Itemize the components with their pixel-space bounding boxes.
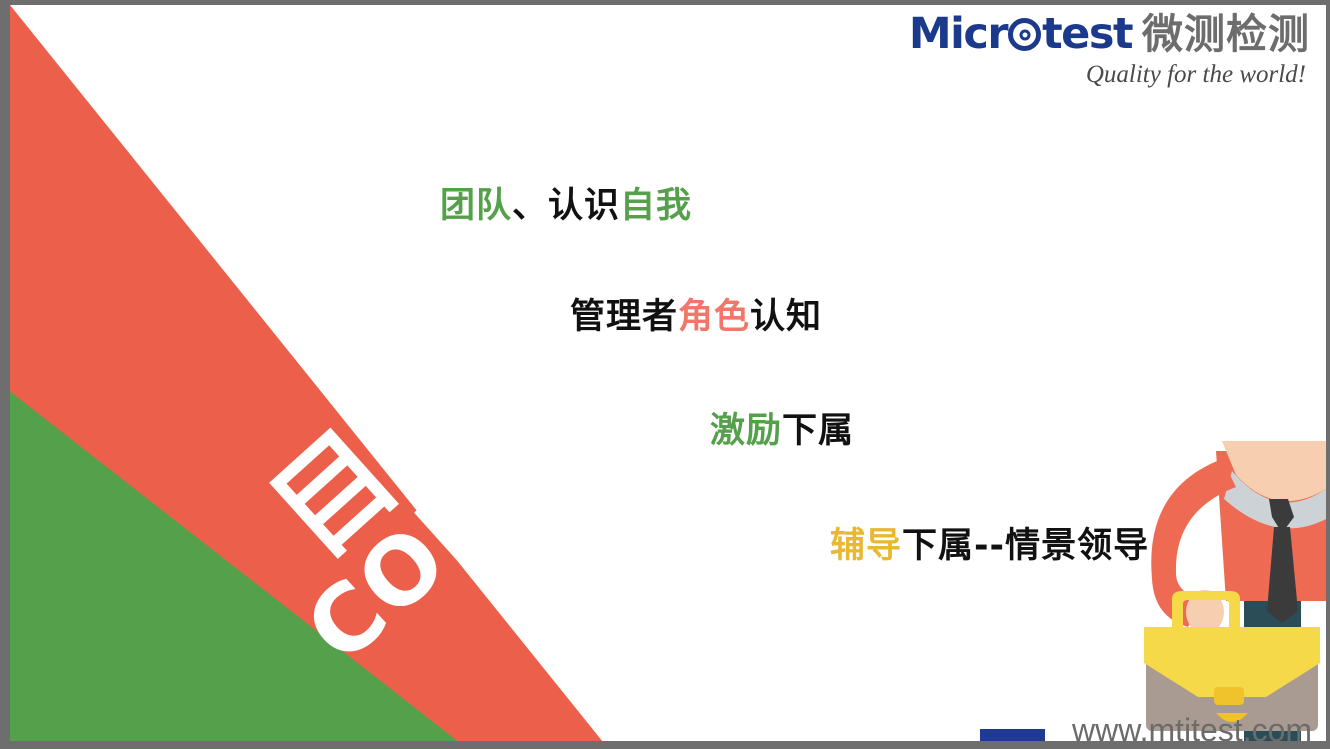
agenda-item-1-seg-2: 、认识 bbox=[512, 186, 620, 226]
agenda-item-1-seg-3: 自我 bbox=[620, 186, 692, 226]
agenda-item-4[interactable]: 辅导下属--情景领导 bbox=[830, 517, 1149, 568]
agenda-item-2-seg-3: 认知 bbox=[750, 297, 822, 337]
agenda-item-3-seg-2: 下属 bbox=[782, 411, 854, 451]
target-ring-o-icon bbox=[1008, 18, 1041, 51]
agenda-item-1-seg-1: 团队 bbox=[440, 186, 512, 226]
slide-canvas: Micr test 微测检测 Quality for the world! 目录… bbox=[10, 5, 1326, 741]
website-url[interactable]: www.mtitest.com bbox=[1072, 712, 1312, 741]
agenda-item-2-seg-1: 管理者 bbox=[570, 297, 678, 337]
logo-chinese-name: 微测检测 bbox=[1142, 14, 1310, 55]
logo-tagline: Quality for the world! bbox=[909, 62, 1310, 87]
slide-root: Micr test 微测检测 Quality for the world! 目录… bbox=[0, 0, 1330, 749]
agenda-item-2-seg-2: 角色 bbox=[678, 297, 750, 337]
blue-accent-bar bbox=[980, 729, 1045, 741]
agenda-item-4-seg-1: 辅导 bbox=[830, 526, 902, 566]
businessman-with-briefcase-icon bbox=[1026, 441, 1326, 741]
agenda-item-3-seg-1: 激励 bbox=[710, 411, 782, 451]
logo-wordmark: Micr test bbox=[909, 13, 1132, 56]
agenda-item-2[interactable]: 管理者角色认知 bbox=[570, 288, 822, 339]
logo-word-part2: test bbox=[1042, 13, 1132, 56]
brand-logo: Micr test 微测检测 Quality for the world! bbox=[909, 13, 1310, 87]
agenda-item-4-seg-2: 下属--情景领导 bbox=[902, 526, 1149, 566]
agenda-item-1[interactable]: 团队、认识自我 bbox=[440, 177, 692, 228]
logo-wordmark-row: Micr test 微测检测 bbox=[909, 13, 1310, 56]
agenda-item-3[interactable]: 激励下属 bbox=[710, 402, 854, 453]
logo-word-part1: Micr bbox=[909, 13, 1007, 56]
